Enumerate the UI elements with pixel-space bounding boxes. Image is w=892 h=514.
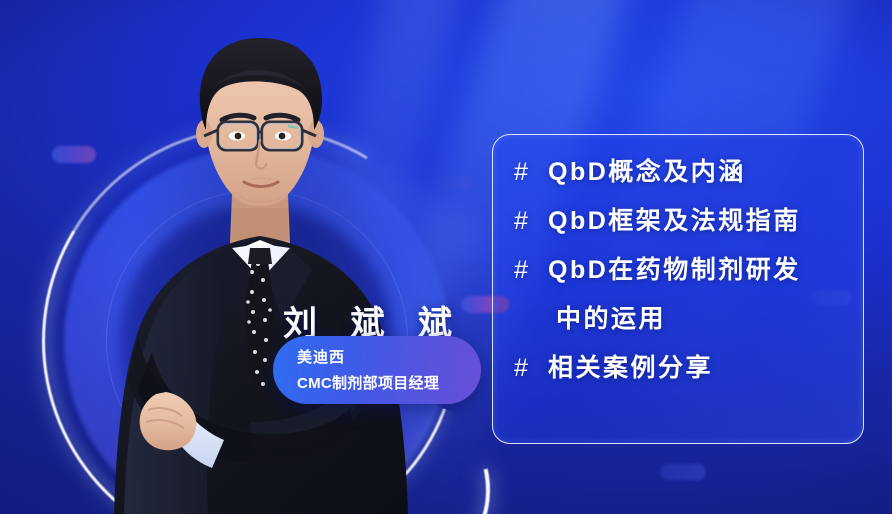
topic-item: # QbD概念及内涵 xyxy=(514,160,854,185)
topic-item: # 相关案例分享 xyxy=(514,356,854,381)
speaker-portrait xyxy=(92,8,422,514)
topic-label: QbD框架及法规指南 xyxy=(548,209,801,234)
banner-stage: 刘 斌 斌 美迪西 CMC制剂部项目经理 # QbD概念及内涵 # QbD框架及… xyxy=(0,0,892,514)
topic-label: QbD在药物制剂研发 xyxy=(548,258,801,283)
hash-icon: # xyxy=(514,209,548,234)
topic-item-continuation: # 中的运用 xyxy=(514,307,854,332)
topic-label: 中的运用 xyxy=(548,307,666,332)
speaker-affiliation-badge: 美迪西 CMC制剂部项目经理 xyxy=(273,336,481,404)
decor-pill-d xyxy=(660,464,706,480)
company-label: 美迪西 xyxy=(273,346,481,367)
role-label: CMC制剂部项目经理 xyxy=(273,372,481,393)
topic-item: # QbD框架及法规指南 xyxy=(514,209,854,234)
topic-label: QbD概念及内涵 xyxy=(548,160,746,185)
hash-icon: # xyxy=(514,160,548,185)
topics-panel: # QbD概念及内涵 # QbD框架及法规指南 # QbD在药物制剂研发 # 中… xyxy=(492,134,864,444)
portrait-illustration xyxy=(92,8,422,514)
topic-item: # QbD在药物制剂研发 xyxy=(514,258,854,283)
topic-label: 相关案例分享 xyxy=(548,356,713,381)
hash-icon: # xyxy=(514,356,548,381)
topics-list: # QbD概念及内涵 # QbD框架及法规指南 # QbD在药物制剂研发 # 中… xyxy=(514,160,854,381)
hash-icon: # xyxy=(514,258,548,283)
